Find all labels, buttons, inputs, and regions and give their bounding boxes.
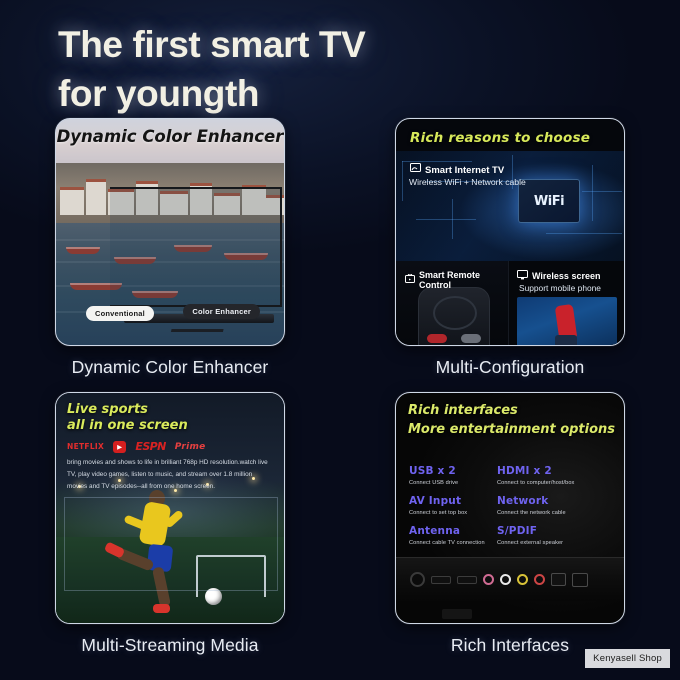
label-conventional: Conventional — [86, 306, 154, 321]
signal-icon — [410, 163, 421, 177]
interface-name: Network — [497, 495, 607, 507]
interface-desc: Connect to computer/host/box — [497, 480, 607, 486]
interface-desc: Connect USB drive — [409, 480, 497, 486]
rca-port-icon — [483, 574, 494, 585]
player-boot — [153, 604, 170, 613]
netflix-logo: NETFLIX — [67, 442, 104, 451]
panel-rich-interfaces[interactable]: Rich interfaces More entertainment optio… — [395, 392, 625, 624]
rich-interfaces-line-1: Rich interfaces — [408, 402, 615, 421]
live-sports-line-2: all in one screen — [67, 418, 188, 434]
subpanel-wireless-screen[interactable]: Wireless screen Support mobile phone — [508, 261, 624, 345]
monitor-icon — [517, 270, 528, 282]
subpanel-smart-remote[interactable]: Smart Remote Control — [396, 261, 510, 345]
remote-control-image — [418, 287, 490, 345]
feature-row-bottom: Live sports all in one screen NETFLIX ▶ … — [0, 392, 680, 656]
tv-screen-overlay — [110, 187, 282, 307]
feature-smart-remote-control: Smart Remote Control — [405, 270, 510, 290]
feature-cell-color-enhancer: Dynamic Color Enhancer Conventional Colo… — [0, 118, 340, 378]
interface-name: AV Input — [409, 495, 497, 507]
panel-title-rich-reasons: Rich reasons to choose — [410, 130, 590, 146]
watermark-badge: Kenyasell Shop — [585, 649, 670, 668]
interface-item-spdif: S/PDIF Connect external speaker — [497, 525, 607, 546]
caption-dynamic-color-enhancer: Dynamic Color Enhancer — [72, 357, 269, 378]
interface-desc: Connect the network cable — [497, 510, 607, 516]
page-title: The first smart TV for youngth — [58, 20, 488, 118]
panel-title-rich-interfaces: Rich interfaces More entertainment optio… — [408, 402, 615, 440]
panel-multi-streaming-media[interactable]: Live sports all in one screen NETFLIX ▶ … — [55, 392, 285, 624]
interface-name: Antenna — [409, 525, 497, 537]
wifi-chip-label: WiFi — [534, 194, 564, 209]
interface-name: HDMI x 2 — [497, 465, 607, 477]
interface-row: Antenna Connect cable TV connection S/PD… — [409, 525, 615, 546]
label-color-enhancer: Color Enhancer — [183, 304, 260, 319]
headline-line-1: The first smart TV — [58, 20, 488, 69]
interface-item-hdmi: HDMI x 2 Connect to computer/host/box — [497, 465, 607, 486]
feature-wireless-screen-label: Wireless screen — [532, 271, 600, 281]
feature-cell-streaming: Live sports all in one screen NETFLIX ▶ … — [0, 392, 340, 656]
panel-title-color-enhancer: Dynamic Color Enhancer — [56, 127, 284, 146]
panel-title-live-sports: Live sports all in one screen — [67, 402, 188, 435]
feature-wireless-screen-sub: Support mobile phone — [519, 283, 601, 293]
feature-smart-internet-tv-label: Smart Internet TV — [425, 165, 504, 176]
remote-grey-button — [461, 334, 481, 343]
caption-rich-interfaces: Rich Interfaces — [451, 635, 569, 656]
tv-screen-overlay — [64, 497, 278, 591]
interface-item-av-input: AV Input Connect to set top box — [409, 495, 497, 516]
interface-desc: Connect to set top box — [409, 510, 497, 516]
interface-name: USB x 2 — [409, 465, 497, 477]
interface-desc: Connect cable TV connection — [409, 540, 497, 546]
tv-stand — [442, 609, 472, 619]
player-legs — [555, 335, 577, 345]
caption-multi-configuration: Multi-Configuration — [436, 357, 585, 378]
remote-red-button — [427, 334, 447, 343]
usb-port-icon — [572, 573, 588, 587]
remote-dpad — [433, 296, 477, 330]
hdmi-port-icon — [457, 576, 477, 584]
rca-port-icon — [500, 574, 511, 585]
interface-item-antenna: Antenna Connect cable TV connection — [409, 525, 497, 546]
wifi-chip: WiFi — [518, 179, 580, 223]
feature-row-top: Dynamic Color Enhancer Conventional Colo… — [0, 118, 680, 378]
feature-grid: Dynamic Color Enhancer Conventional Colo… — [0, 118, 680, 656]
feature-wireless-screen: Wireless screen — [517, 270, 600, 282]
feature-smart-internet-tv: Smart Internet TV — [410, 163, 504, 177]
rich-interfaces-line-2: More entertainment options — [408, 421, 615, 440]
interface-row: USB x 2 Connect USB drive HDMI x 2 Conne… — [409, 465, 615, 486]
panel-multi-configuration[interactable]: Rich reasons to choose WiFi — [395, 118, 625, 346]
feature-cell-multi-configuration: Rich reasons to choose WiFi — [340, 118, 680, 378]
tv-remote-icon — [405, 274, 415, 286]
caption-multi-streaming-media: Multi-Streaming Media — [81, 635, 258, 656]
tv-stand — [171, 322, 225, 332]
rca-port-icon — [534, 574, 545, 585]
interface-item-network: Network Connect the network cable — [497, 495, 607, 516]
interface-desc: Connect external speaker — [497, 540, 607, 546]
headline-line-2: for youngth — [58, 69, 488, 118]
interface-list: USB x 2 Connect USB drive HDMI x 2 Conne… — [409, 465, 615, 555]
page-background: The first smart TV for youngth — [0, 0, 680, 680]
panel-dynamic-color-enhancer[interactable]: Dynamic Color Enhancer Conventional Colo… — [55, 118, 285, 346]
tv-port-strip — [396, 557, 624, 601]
feature-smart-remote-control-label: Smart Remote Control — [419, 270, 510, 290]
interface-name: S/PDIF — [497, 525, 607, 537]
prime-logo: Prime — [175, 442, 206, 452]
antenna-port-icon — [410, 572, 425, 587]
ethernet-port-icon — [551, 573, 566, 586]
feature-smart-internet-tv-sub: Wireless WiFi + Network cable — [409, 177, 526, 187]
streaming-description: bring movies and shows to life in brilli… — [67, 457, 273, 493]
espn-logo: ESPN — [135, 440, 165, 453]
youtube-logo: ▶ — [113, 441, 126, 453]
streaming-logo-row: NETFLIX ▶ ESPN Prime — [67, 440, 206, 453]
rca-port-icon — [517, 574, 528, 585]
feature-cell-interfaces: Rich interfaces More entertainment optio… — [340, 392, 680, 656]
interface-row: AV Input Connect to set top box Network … — [409, 495, 615, 516]
wireless-screen-image — [517, 297, 617, 345]
hdmi-port-icon — [431, 576, 451, 584]
live-sports-line-1: Live sports — [67, 402, 188, 418]
interface-item-usb: USB x 2 Connect USB drive — [409, 465, 497, 486]
